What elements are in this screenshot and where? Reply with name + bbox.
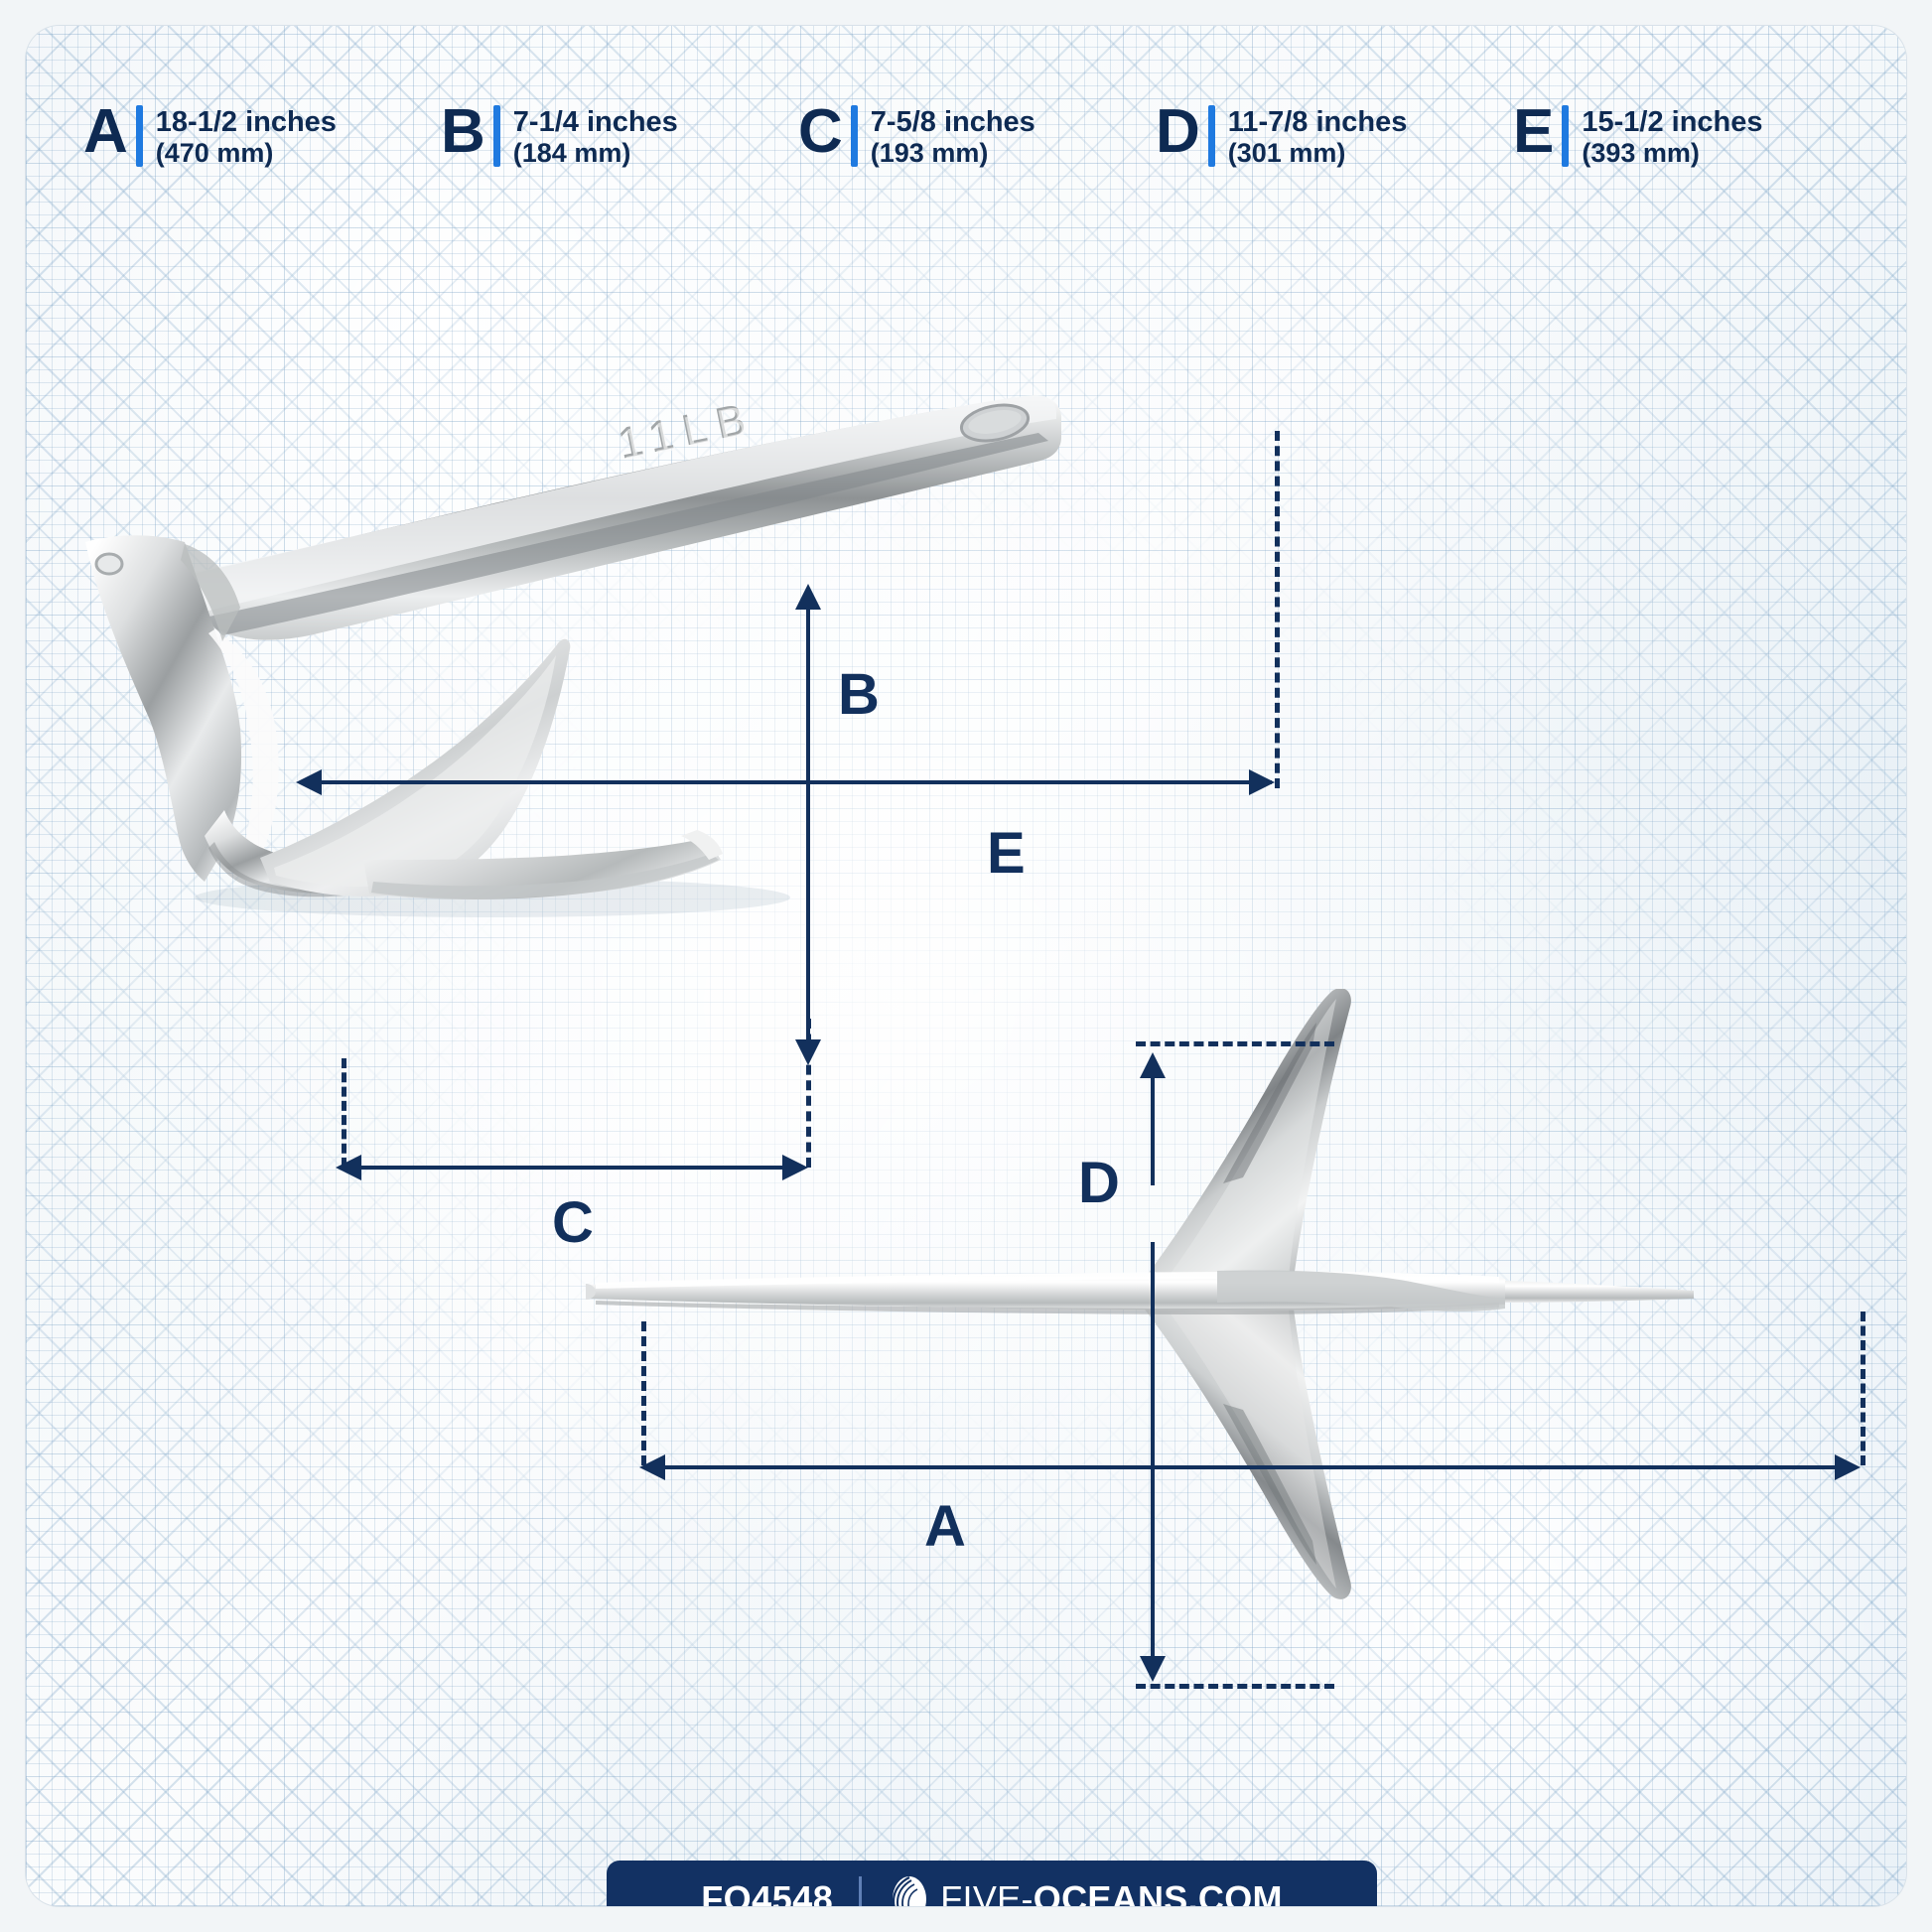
legend-letter-e: E bbox=[1513, 103, 1553, 160]
legend-letter-c: C bbox=[798, 103, 842, 160]
legend-item-d: D 11-7/8 inches (301 mm) bbox=[1156, 103, 1513, 179]
legend-divider-b bbox=[493, 105, 500, 167]
spec-card: A 18-1/2 inches (470 mm) B 7-1/4 inches … bbox=[26, 26, 1906, 1906]
anchor-top-view bbox=[582, 989, 1892, 1684]
dim-a-arrow-right bbox=[1835, 1454, 1861, 1480]
dim-a-line bbox=[657, 1465, 1849, 1469]
brand-lockup: FIVE-OCEANS.COM bbox=[888, 1874, 1283, 1906]
dim-e-ext-right bbox=[1275, 431, 1280, 788]
dim-d-line-lower bbox=[1151, 1242, 1155, 1659]
legend-item-a: A 18-1/2 inches (470 mm) bbox=[83, 103, 441, 179]
legend-mm-c: (193 mm) bbox=[871, 138, 1035, 170]
legend-item-b: B 7-1/4 inches (184 mm) bbox=[441, 103, 798, 179]
dim-d-arrow-down bbox=[1140, 1656, 1166, 1682]
dim-a-arrow-left bbox=[639, 1454, 665, 1480]
legend-item-e: E 15-1/2 inches (393 mm) bbox=[1513, 103, 1861, 179]
dim-e-line bbox=[314, 780, 1272, 784]
legend-mm-d: (301 mm) bbox=[1228, 138, 1408, 170]
legend-inches-e: 15-1/2 inches bbox=[1582, 106, 1762, 138]
brand-suffix: OCEANS.COM bbox=[1034, 1878, 1283, 1906]
dim-label-d: D bbox=[1078, 1150, 1119, 1216]
dim-e-arrow-right bbox=[1249, 769, 1275, 795]
dim-a-ext-left bbox=[641, 1321, 646, 1465]
legend-mm-a: (470 mm) bbox=[156, 138, 337, 170]
diagram-canvas: A 18-1/2 inches (470 mm) B 7-1/4 inches … bbox=[0, 0, 1932, 1932]
dim-label-e: E bbox=[987, 820, 1025, 887]
legend-inches-a: 18-1/2 inches bbox=[156, 106, 337, 138]
dim-c-arrow-left bbox=[336, 1155, 361, 1180]
legend-letter-b: B bbox=[441, 103, 484, 160]
legend-divider-a bbox=[136, 105, 143, 167]
dim-e-arrow-left bbox=[296, 769, 322, 795]
footer-badge: FO4548 FIVE-OCEANS.COM bbox=[607, 1861, 1377, 1906]
legend-inches-d: 11-7/8 inches bbox=[1228, 106, 1408, 138]
legend-inches-b: 7-1/4 inches bbox=[513, 106, 678, 138]
dim-d-line-upper bbox=[1151, 1076, 1155, 1185]
dim-label-a: A bbox=[924, 1493, 965, 1560]
dim-d-ext-top bbox=[1136, 1041, 1334, 1046]
legend-mm-b: (184 mm) bbox=[513, 138, 678, 170]
brand-text: FIVE-OCEANS.COM bbox=[940, 1878, 1283, 1906]
dim-b-arrow-up bbox=[795, 584, 821, 610]
legend-item-c: C 7-5/8 inches (193 mm) bbox=[798, 103, 1156, 179]
product-sku: FO4548 bbox=[701, 1878, 833, 1906]
dim-d-ext-bottom bbox=[1136, 1684, 1334, 1689]
legend-mm-e: (393 mm) bbox=[1582, 138, 1762, 170]
legend-letter-a: A bbox=[83, 103, 127, 160]
dim-a-ext-right bbox=[1861, 1311, 1865, 1465]
shell-icon bbox=[888, 1874, 931, 1906]
dim-label-b: B bbox=[838, 661, 879, 728]
legend-letter-d: D bbox=[1156, 103, 1199, 160]
brand-prefix: FIVE- bbox=[940, 1878, 1034, 1906]
legend-divider-e bbox=[1562, 105, 1569, 167]
dimension-legend: A 18-1/2 inches (470 mm) B 7-1/4 inches … bbox=[83, 103, 1861, 179]
legend-divider-c bbox=[851, 105, 858, 167]
legend-divider-d bbox=[1208, 105, 1215, 167]
dim-c-ext-left bbox=[342, 1058, 346, 1168]
legend-inches-c: 7-5/8 inches bbox=[871, 106, 1035, 138]
footer-divider bbox=[859, 1876, 862, 1906]
dim-d-arrow-up bbox=[1140, 1052, 1166, 1078]
